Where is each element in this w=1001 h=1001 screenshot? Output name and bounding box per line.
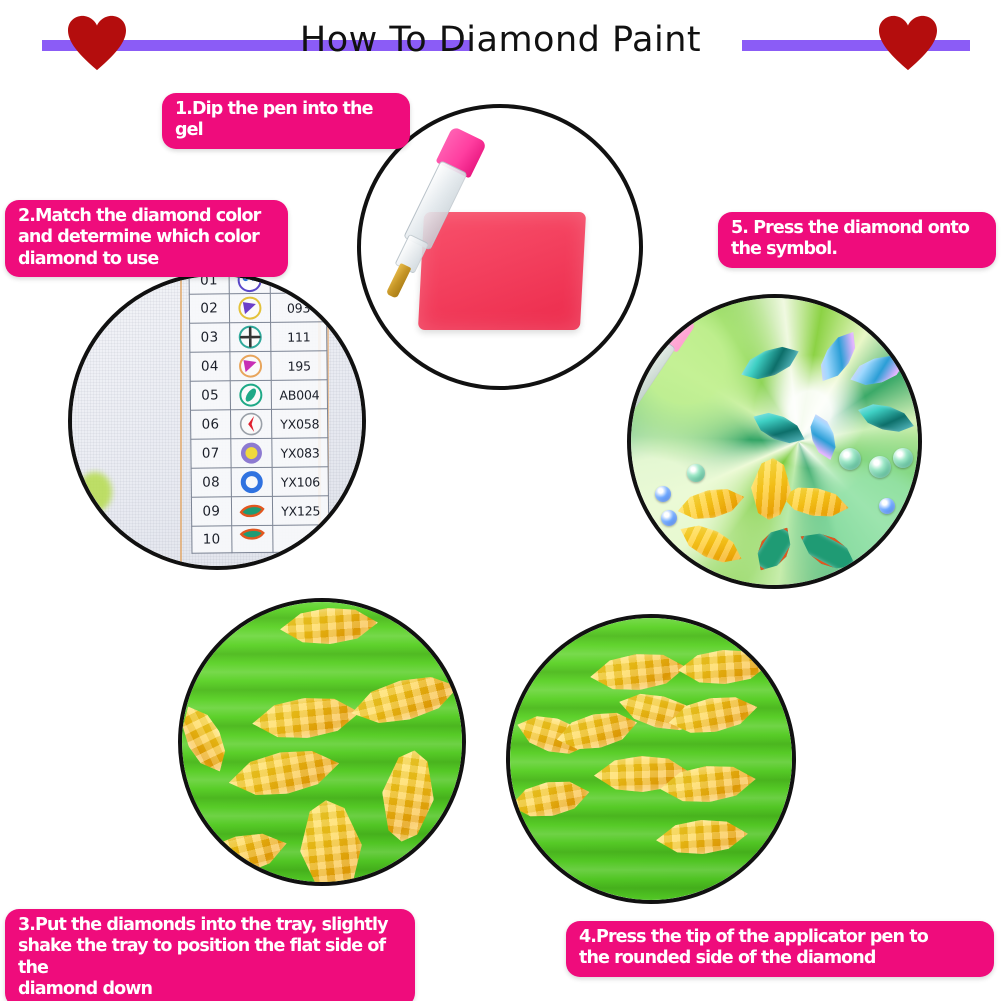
step-2-label-line-1: 2.Match the diamond color (18, 206, 275, 227)
rhinestone (655, 486, 671, 502)
infographic-page: How To Diamond Paint 1.Dip the pen into … (0, 0, 1001, 1001)
step-4-label-line-1: 4.Press the tip of the applicator pen to (579, 927, 981, 948)
chart-symbol (229, 322, 271, 351)
chart-number: 03 (190, 323, 230, 352)
diamond-color-chart: 01 020 (189, 276, 330, 554)
chart-symbol (231, 496, 273, 525)
chart-symbol (229, 276, 271, 294)
canvas-guide-line (180, 276, 182, 566)
chart-symbol (230, 380, 272, 409)
chart-symbol (231, 525, 273, 552)
rhinestone (879, 498, 895, 514)
step-4-label: 4.Press the tip of the applicator pen to… (566, 921, 994, 977)
chart-code: YX125 (273, 496, 329, 526)
chart-code: 195 (271, 351, 327, 381)
table-row: 07 YX083 (191, 438, 328, 468)
chart-symbol (230, 438, 272, 467)
photo-pen-picking-diamond (506, 614, 796, 904)
rhinestone (893, 448, 913, 468)
gel-pad (418, 212, 586, 330)
chart-symbol (229, 293, 271, 322)
chart-code: YX106 (272, 467, 328, 497)
chart-number: 05 (190, 381, 230, 410)
header: How To Diamond Paint (0, 0, 1001, 82)
chart-number: 01 (189, 276, 229, 294)
chart-number: 06 (191, 410, 231, 439)
leaf-outline-icon (239, 526, 265, 552)
leaf-outline-icon (239, 498, 265, 524)
chart-symbol (231, 467, 273, 496)
table-row: 05 AB004 (190, 380, 327, 410)
chevron-in-circle-icon (238, 411, 264, 437)
chart-number: 04 (190, 352, 230, 381)
rhinestone (869, 456, 891, 478)
step-3-label-line-1: 3.Put the diamonds into the tray, slight… (18, 915, 402, 936)
double-dot-circle-icon (236, 276, 262, 293)
table-row: 06 YX058 (191, 409, 328, 439)
photo-diamonds-in-tray (178, 598, 466, 886)
photo-press-onto-symbol (627, 294, 922, 589)
step-3-label-line-2: shake the tray to position the flat side… (18, 936, 402, 979)
step-4-label-line-2: the rounded side of the diamond (579, 948, 981, 969)
chart-number: 09 (191, 497, 231, 526)
rhinestone (661, 510, 677, 526)
page-title: How To Diamond Paint (0, 20, 1001, 60)
photo-color-chart: 01 020 (68, 272, 366, 570)
table-row: 10 (192, 525, 329, 553)
dot-in-ring-icon (238, 440, 264, 466)
canvas-print-blob (78, 472, 112, 512)
pen-tip (386, 263, 412, 299)
canvas-symbol-blob (98, 540, 124, 566)
chart-code (273, 525, 329, 553)
chart-number: 10 (192, 526, 232, 553)
chart-code: YX083 (272, 438, 328, 468)
step-2-label-line-3: diamond to use (18, 249, 275, 270)
table-row: 01 020 (189, 276, 326, 294)
step-2-label-line-2: and determine which color (18, 227, 275, 248)
table-row: 03 111 (190, 322, 327, 352)
open-ring-icon (239, 469, 265, 495)
table-row: 08 YX106 (191, 467, 328, 497)
table-row: 02 093 (189, 293, 326, 323)
oval-in-circle-icon (238, 382, 264, 408)
chart-code: 093 (271, 293, 327, 323)
rhinestone (839, 448, 861, 470)
triangle-in-circle-icon (237, 295, 263, 321)
chart-number: 02 (189, 294, 229, 323)
step-2-label: 2.Match the diamond color and determine … (5, 200, 288, 277)
chart-symbol (230, 409, 272, 438)
chart-code: 111 (271, 322, 327, 352)
table-row: 04 195 (190, 351, 327, 381)
step-3-label: 3.Put the diamonds into the tray, slight… (5, 909, 415, 1001)
step-5-label: 5. Press the diamond onto the symbol. (718, 212, 996, 268)
step-1-label: 1.Dip the pen into the gel (162, 93, 410, 149)
triangle-in-circle-icon (237, 353, 263, 379)
step-3-label-line-3: diamond down (18, 979, 402, 1000)
step-5-label-line-1: 5. Press the diamond onto (731, 218, 983, 239)
chart-number: 08 (191, 468, 231, 497)
chart-code: 020 (270, 276, 326, 293)
rhinestone (687, 464, 705, 482)
table-row: 09 YX125 (191, 496, 328, 526)
chart-code: AB004 (271, 380, 327, 410)
cross-in-circle-icon (237, 324, 263, 350)
chart-symbol (229, 351, 271, 380)
step-5-label-line-2: the symbol. (731, 239, 983, 260)
chart-number: 07 (191, 439, 231, 468)
chart-code: YX058 (272, 409, 328, 439)
